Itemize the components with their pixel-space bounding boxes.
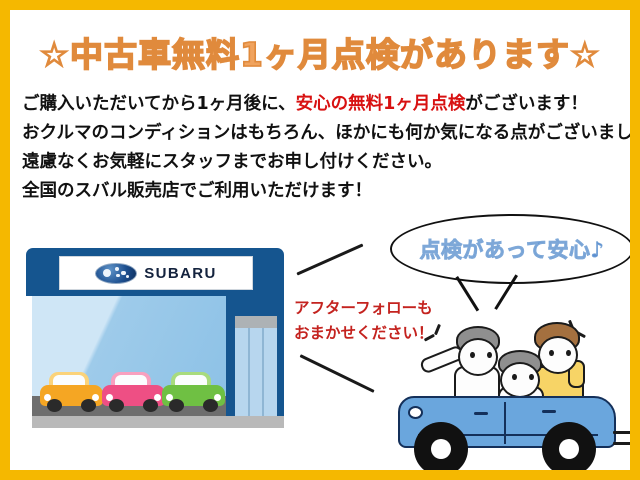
arrow-stroke-lower [299,354,374,393]
copy-line-3: 遠慮なくお気軽にスタッフまでお申し付けください。 [22,148,634,177]
father-head [458,338,498,376]
car-wheel-rear [542,422,596,476]
brand-name-label: SUBARU [144,265,217,282]
dealership-illustration: SUBARU [26,248,284,438]
car-headlight [408,406,423,419]
child-head [500,362,540,398]
family-car-illustration [392,310,630,470]
copy-line-4: 全国のスバル販売店でご利用いただけます！ [22,177,634,206]
dealership-curb [32,416,284,428]
copy-line-1-highlight: 安心の無料1ヶ月点検 [296,94,466,114]
car-handle-rear [542,410,556,413]
showroom-car-green [162,374,225,412]
dealership-signboard: SUBARU [59,256,253,290]
motion-mark-top [613,431,637,434]
copy-line-2: おクルマのコンディションはもちろん、ほかにも何か気になる点がございましたら [22,119,634,148]
page-title-text: ☆中古車無料1ヶ月点検があります☆ [39,35,600,74]
motion-mark-bottom [613,442,637,445]
mother-head [538,336,578,374]
page-title: ☆中古車無料1ヶ月点検があります☆ [10,28,630,76]
promo-poster: ☆中古車無料1ヶ月点検があります☆ ご購入いただいてから1ヶ月後に、安心の無料1… [0,0,640,480]
showroom-car-orange [40,374,103,412]
arrow-stroke-upper [296,244,363,276]
copy-line-1-pre: ご購入いただいてから1ヶ月後に、 [22,94,296,114]
car-handle-front [474,412,488,415]
speech-balloon: 点検があって安心♪ [390,214,634,284]
showroom-car-pink [102,374,165,412]
copy-line-1: ご購入いただいてから1ヶ月後に、安心の無料1ヶ月点検がございます！ [22,90,634,119]
copy-line-1-post: がございます！ [465,94,588,114]
body-copy: ご購入いただいてから1ヶ月後に、安心の無料1ヶ月点検がございます！ おクルマのコ… [22,90,634,206]
car-wheel-front [414,422,468,476]
spark-left-2 [424,334,435,341]
spark-left-1 [434,324,441,335]
speech-balloon-text: 点検があって安心♪ [420,234,605,264]
dealership-door [235,316,277,416]
car-door-seam [504,402,506,444]
subaru-logo-icon [95,263,137,284]
